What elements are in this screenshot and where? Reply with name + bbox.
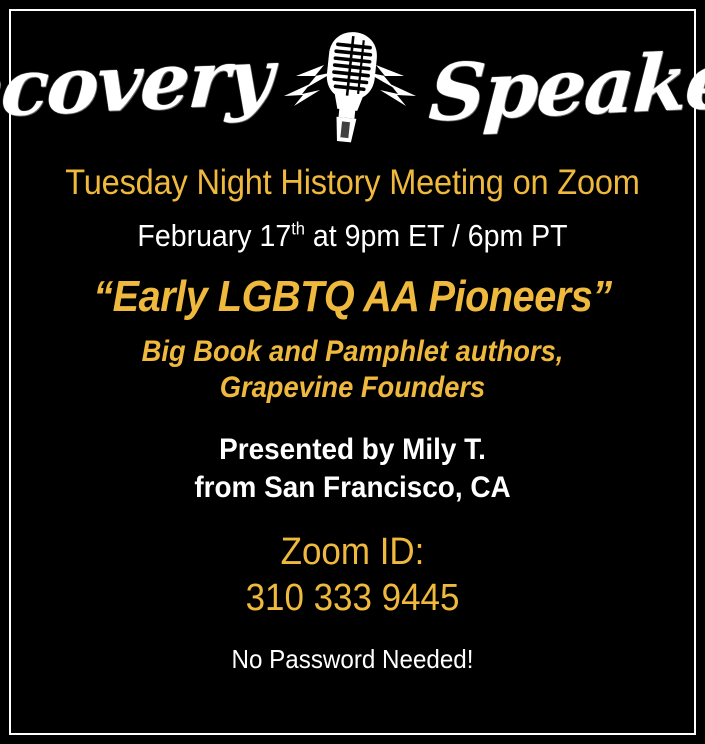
- talk-subtitle: Big Book and Pamphlet authors, Grapevine…: [42, 334, 664, 405]
- event-flyer: Recovery: [0, 0, 705, 744]
- flyer-content: Recovery: [11, 11, 694, 733]
- headline: Tuesday Night History Meeting on Zoom: [35, 165, 670, 202]
- talk-subtitle-line1: Big Book and Pamphlet authors,: [142, 335, 564, 368]
- date-month-day: February 17: [137, 218, 291, 253]
- logo-word-speakers: Speakers: [427, 39, 705, 134]
- microphone-logo-icon: [276, 24, 424, 148]
- date-times: at 9pm ET / 6pm PT: [305, 218, 568, 253]
- presenter-block: Presented by Mily T. from San Francisco,…: [35, 431, 670, 507]
- presenter-name: Presented by Mily T.: [219, 433, 486, 466]
- zoom-id-label: Zoom ID:: [281, 531, 425, 573]
- brand-logo: Recovery: [11, 19, 694, 153]
- password-note: No Password Needed!: [35, 646, 670, 673]
- logo-word-recovery: Recovery: [0, 39, 273, 133]
- talk-subtitle-line2: Grapevine Founders: [42, 370, 664, 405]
- zoom-id-block: Zoom ID: 310 333 9445: [38, 529, 666, 622]
- date-ordinal-suffix: th: [291, 218, 305, 238]
- talk-title: “Early LGBTQ AA Pioneers”: [45, 274, 660, 320]
- date-time-line: February 17th at 9pm ET / 6pm PT: [38, 220, 666, 253]
- presenter-location: from San Francisco, CA: [35, 469, 670, 507]
- zoom-id-value: 310 333 9445: [38, 575, 666, 621]
